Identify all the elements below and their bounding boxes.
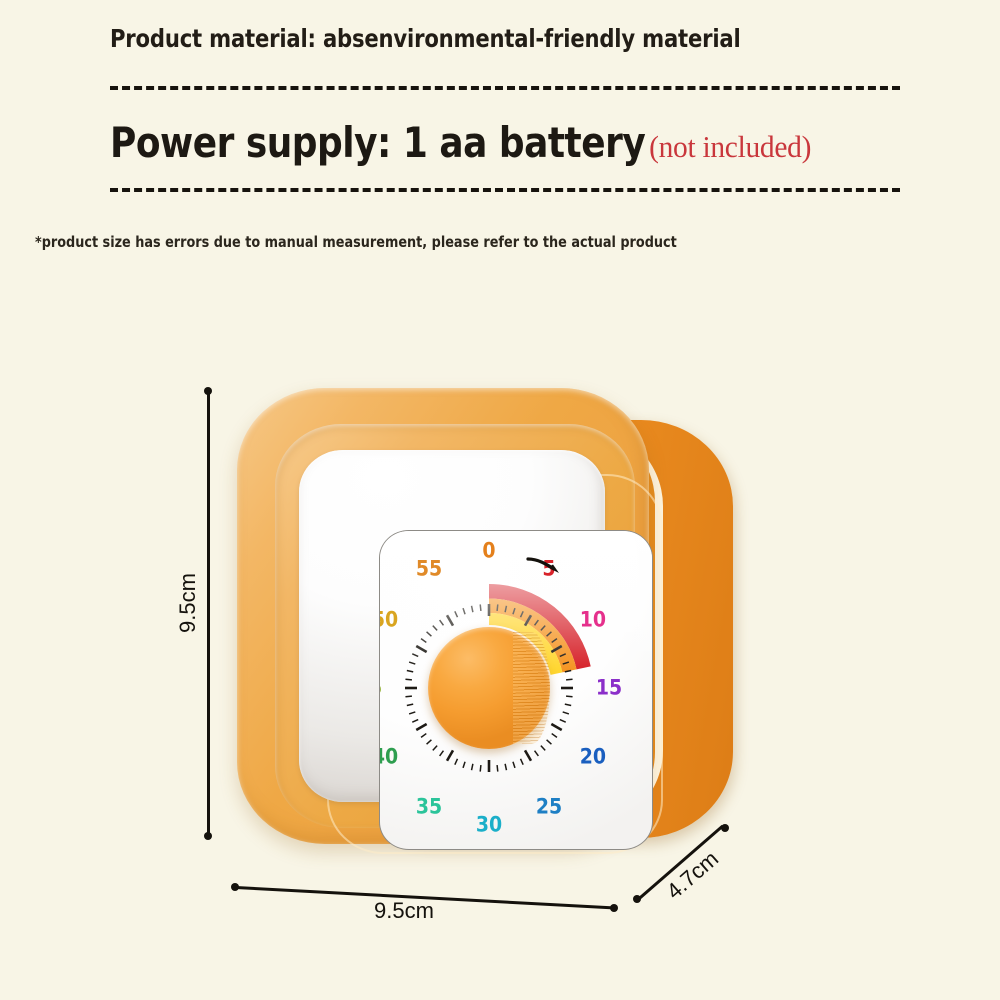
dashed-divider-top bbox=[110, 86, 900, 90]
dial-number-0: 0 bbox=[482, 541, 495, 562]
dial-number-55: 55 bbox=[416, 559, 442, 580]
width-dim-endpoint-left bbox=[231, 883, 239, 891]
tick-minor bbox=[409, 712, 415, 714]
tick-minor bbox=[563, 712, 569, 714]
infographic-canvas: Product material: absenvironmental-frien… bbox=[0, 0, 1000, 1000]
tick-minor bbox=[472, 606, 473, 612]
power-supply-note: (not included) bbox=[649, 129, 811, 165]
device-lens-plate: 0510152025303540455055 bbox=[299, 450, 605, 802]
tick-minor bbox=[505, 764, 506, 770]
height-dim-endpoint-bottom bbox=[204, 832, 212, 840]
depth-dimension-group: 4.7cm bbox=[628, 836, 808, 926]
tick-minor bbox=[513, 762, 515, 768]
dial-number-45: 45 bbox=[379, 678, 382, 699]
dial-number-30: 30 bbox=[476, 815, 502, 836]
dial-number-40: 40 bbox=[379, 746, 398, 767]
dial-number-10: 10 bbox=[580, 609, 606, 630]
height-dimension-line bbox=[207, 392, 210, 836]
tick-minor bbox=[497, 765, 498, 771]
timer-dial-face: 0510152025303540455055 bbox=[379, 530, 653, 850]
dial-number-20: 20 bbox=[580, 746, 606, 767]
measurement-disclaimer-text: *product size has errors due to manual m… bbox=[35, 233, 677, 251]
tick-minor bbox=[560, 720, 566, 723]
tick-minor bbox=[565, 704, 571, 705]
tick-minor bbox=[405, 679, 411, 680]
tick-minor bbox=[440, 751, 444, 756]
power-supply-text: Power supply: 1 aa battery bbox=[110, 118, 645, 167]
tick-minor bbox=[405, 696, 411, 697]
width-dimension-label: 9.5cm bbox=[374, 898, 434, 924]
device-front-bezel: 0510152025303540455055 bbox=[237, 388, 649, 844]
tick-minor bbox=[472, 764, 473, 770]
timer-dial-knob[interactable] bbox=[428, 627, 550, 749]
tick-minor bbox=[427, 740, 432, 744]
tick-minor bbox=[455, 611, 458, 617]
tick-minor bbox=[566, 679, 572, 680]
product-material-text: Product material: absenvironmental-frien… bbox=[110, 24, 741, 53]
tick-minor bbox=[480, 765, 481, 771]
tick-major bbox=[551, 724, 561, 730]
height-dim-endpoint-top bbox=[204, 387, 212, 395]
depth-dim-endpoint-far bbox=[721, 824, 729, 832]
tick-major bbox=[447, 750, 453, 760]
tick-minor bbox=[521, 759, 524, 765]
tick-minor bbox=[497, 604, 498, 610]
dial-number-50: 50 bbox=[379, 609, 398, 630]
tick-minor bbox=[566, 696, 572, 697]
tick-minor bbox=[463, 762, 465, 768]
tick-minor bbox=[535, 751, 539, 756]
tick-minor bbox=[433, 626, 437, 631]
tick-minor bbox=[433, 746, 437, 751]
tick-minor bbox=[440, 620, 444, 625]
tick-minor bbox=[547, 740, 552, 744]
tick-minor bbox=[412, 654, 418, 657]
tick-minor bbox=[541, 746, 545, 751]
dashed-divider-bottom bbox=[110, 188, 900, 192]
tick-minor bbox=[427, 632, 432, 636]
tick-minor bbox=[421, 639, 426, 643]
power-supply-row: Power supply: 1 aa battery (not included… bbox=[110, 118, 811, 167]
tick-minor bbox=[480, 604, 481, 610]
tick-minor bbox=[409, 662, 415, 664]
height-dimension-label: 9.5cm bbox=[175, 573, 201, 633]
tick-minor bbox=[463, 608, 465, 614]
dial-number-15: 15 bbox=[596, 678, 622, 699]
dial-number-35: 35 bbox=[416, 796, 442, 817]
tick-minor bbox=[455, 759, 458, 765]
knob-ridge-texture bbox=[513, 632, 550, 744]
width-dimension-group: 9.5cm bbox=[230, 872, 620, 912]
tick-minor bbox=[412, 720, 418, 723]
tick-major bbox=[525, 750, 531, 760]
width-dim-endpoint-right bbox=[610, 904, 618, 912]
tick-minor bbox=[421, 734, 426, 738]
tick-major bbox=[447, 615, 453, 625]
tick-minor bbox=[407, 671, 413, 672]
tick-major bbox=[416, 724, 426, 730]
tick-minor bbox=[407, 704, 413, 705]
tick-minor bbox=[552, 734, 557, 738]
depth-dim-endpoint-near bbox=[633, 895, 641, 903]
dial-number-25: 25 bbox=[536, 796, 562, 817]
tick-major bbox=[416, 646, 426, 652]
depth-dimension-label: 4.7cm bbox=[661, 846, 723, 905]
clockwise-arrow-icon bbox=[526, 555, 566, 577]
